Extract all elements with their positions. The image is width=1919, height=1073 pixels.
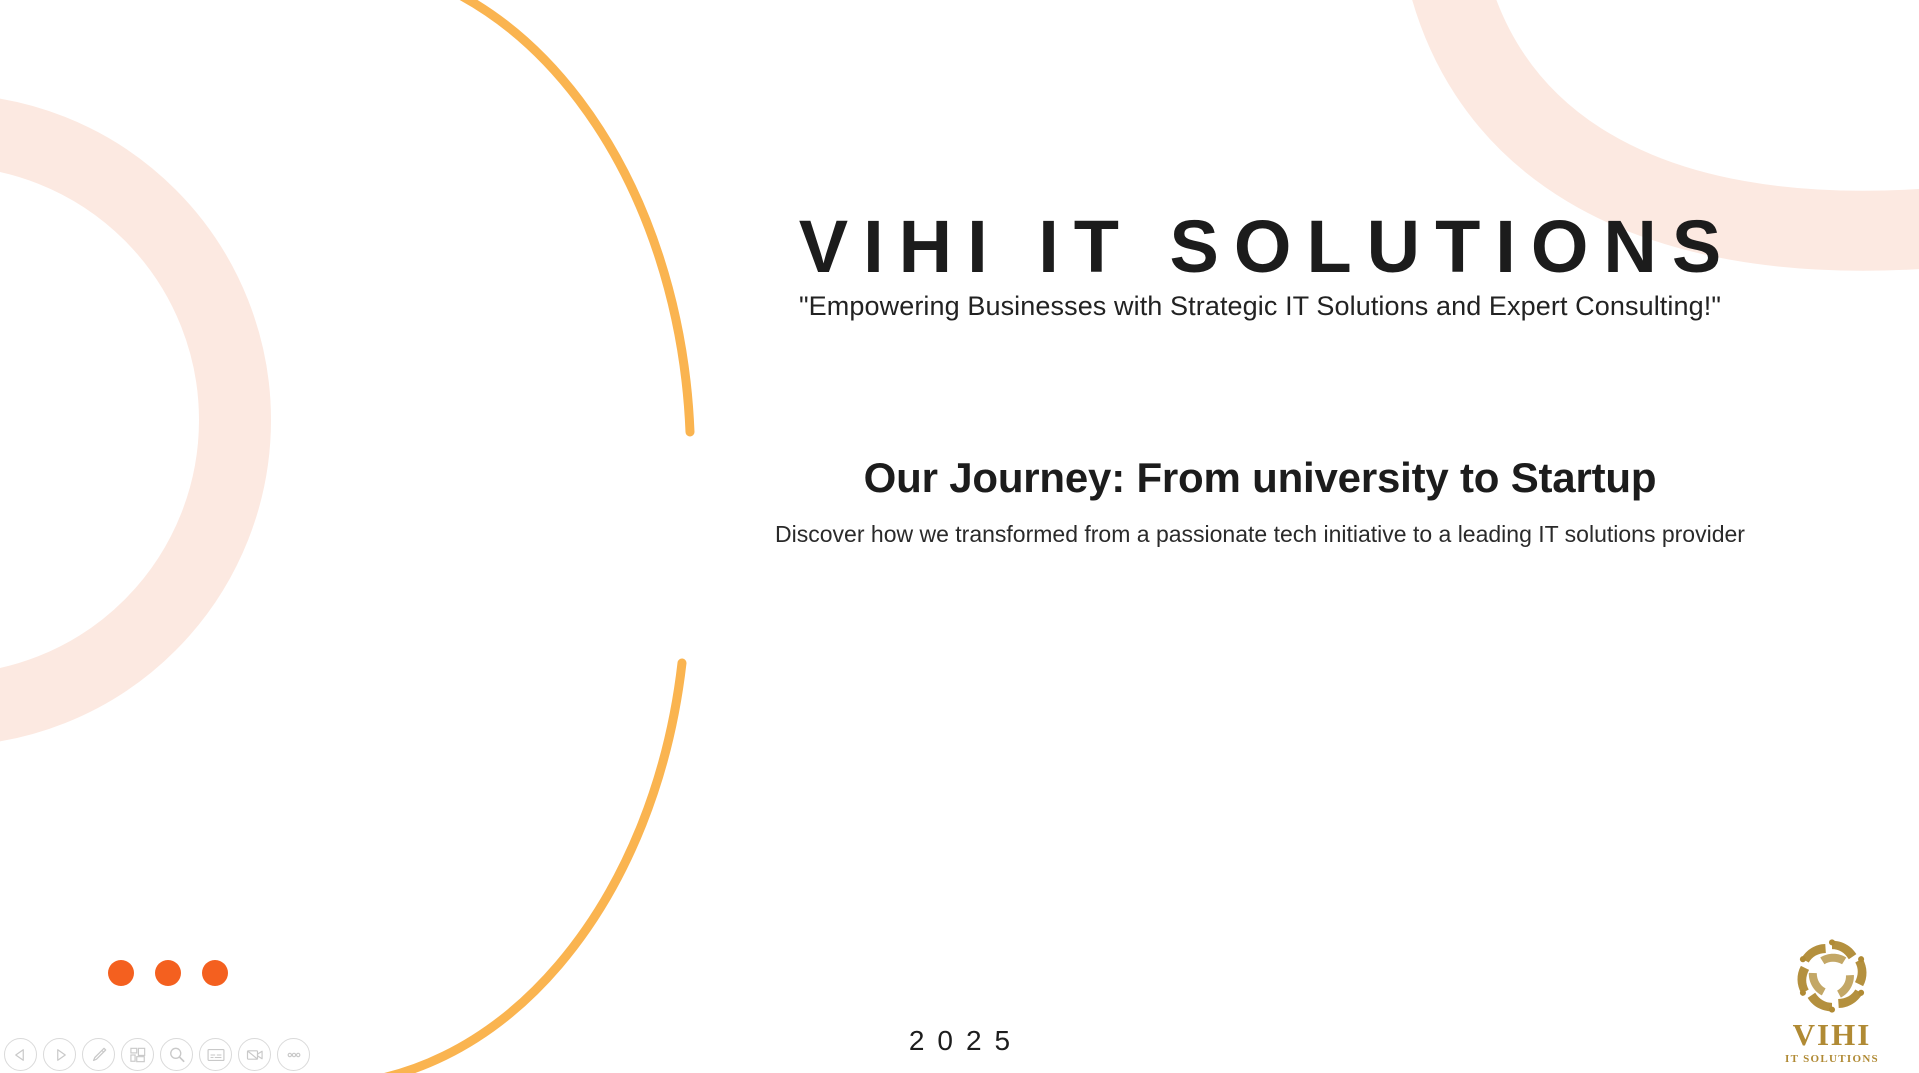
- presenter-toolbar[interactable]: [4, 1038, 310, 1071]
- pen-icon: [89, 1045, 109, 1065]
- orange-dot-icon: [155, 960, 181, 986]
- next-slide-button[interactable]: [43, 1038, 76, 1071]
- section-group: Our Journey: From university to Startup …: [640, 455, 1880, 550]
- chevron-left-icon: [12, 1046, 30, 1064]
- camera-off-button[interactable]: [238, 1038, 271, 1071]
- orange-dot-cluster: [108, 960, 228, 986]
- title-group: VIHI IT SOLUTIONS "Empowering Businesses…: [640, 210, 1880, 324]
- all-slides-button[interactable]: [121, 1038, 154, 1071]
- orange-dot-icon: [108, 960, 134, 986]
- subtitles-button[interactable]: [199, 1038, 232, 1071]
- ellipsis-icon: [284, 1045, 304, 1065]
- presentation-slide: VIHI IT SOLUTIONS "Empowering Businesses…: [0, 0, 1919, 1073]
- company-logo: VIHI IT SOLUTIONS: [1767, 934, 1897, 1065]
- camera-off-icon: [245, 1045, 265, 1065]
- captions-icon: [206, 1045, 226, 1065]
- brand-tagline: "Empowering Businesses with Strategic IT…: [640, 290, 1880, 324]
- pink-arc-top-right: [1440, 0, 1919, 231]
- magnifier-icon: [167, 1045, 187, 1065]
- previous-slide-button[interactable]: [4, 1038, 37, 1071]
- more-options-button[interactable]: [277, 1038, 310, 1071]
- logo-subtext: IT SOLUTIONS: [1767, 1054, 1897, 1065]
- spiral-tech-emblem-icon: [1790, 934, 1874, 1018]
- pen-tool-button[interactable]: [82, 1038, 115, 1071]
- brand-title: VIHI IT SOLUTIONS: [640, 210, 1880, 284]
- zoom-button[interactable]: [160, 1038, 193, 1071]
- orange-dot-icon: [202, 960, 228, 986]
- logo-wordmark: VIHI: [1767, 1019, 1897, 1050]
- section-body-text: Discover how we transformed from a passi…: [750, 519, 1770, 550]
- chevron-right-icon: [51, 1046, 69, 1064]
- slides-grid-icon: [128, 1045, 148, 1065]
- pink-ring-left: [0, 130, 235, 710]
- section-heading: Our Journey: From university to Startup: [640, 455, 1880, 501]
- orange-circle-outline: [322, 0, 690, 1073]
